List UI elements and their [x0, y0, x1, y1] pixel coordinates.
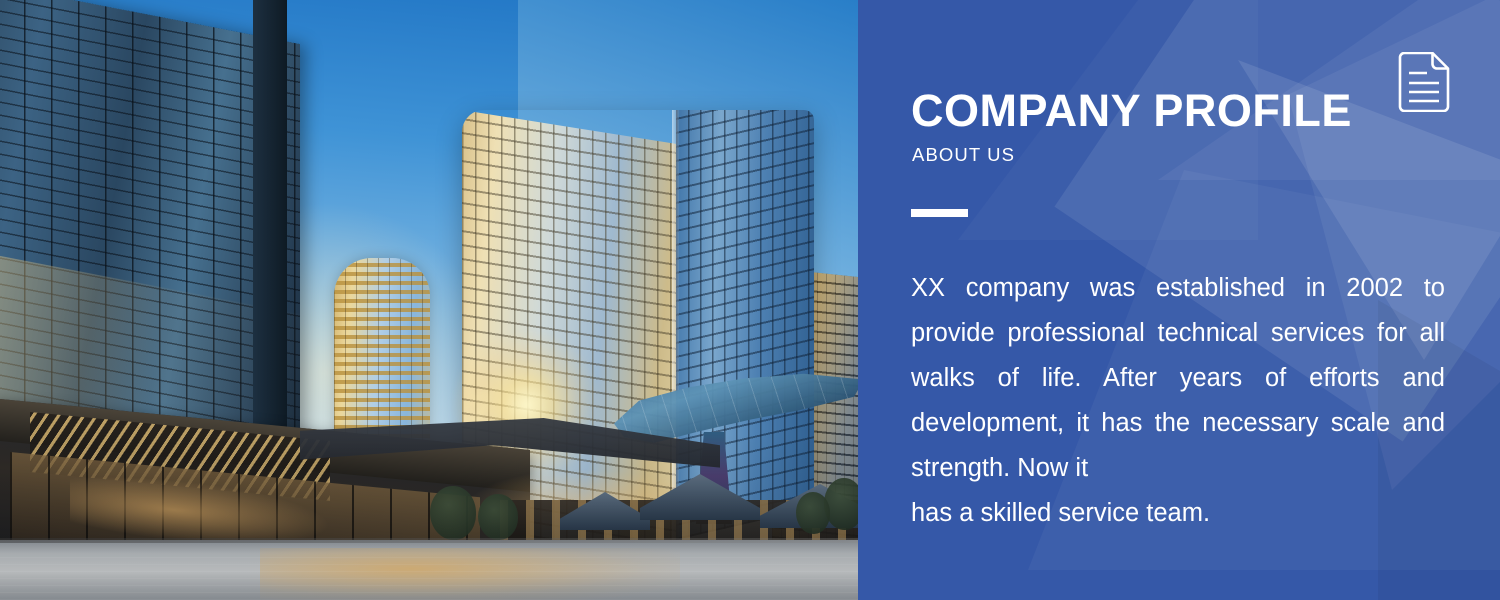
- title-divider: [911, 209, 968, 217]
- profile-body-text: XX company was established in 2002 to pr…: [911, 266, 1445, 536]
- plaza-tree-3: [824, 478, 858, 530]
- plaza-tree-4: [796, 492, 830, 534]
- page-subtitle: ABOUT US: [912, 146, 1015, 165]
- plaza-tree-1: [430, 486, 476, 540]
- plaza-edge-line: [0, 538, 858, 543]
- plaza-reflections: [0, 556, 858, 600]
- plaza-tree-2: [478, 494, 518, 540]
- page-title: COMPANY PROFILE: [911, 88, 1352, 133]
- profile-body-last-line: has a skilled service team.: [911, 491, 1445, 536]
- architecture-photo: [0, 0, 858, 600]
- profile-panel: COMPANY PROFILE ABOUT US XX company was …: [858, 0, 1500, 600]
- document-icon: [1396, 52, 1452, 112]
- company-profile-banner: COMPANY PROFILE ABOUT US XX company was …: [0, 0, 1500, 600]
- profile-body-main: XX company was established in 2002 to pr…: [911, 274, 1445, 482]
